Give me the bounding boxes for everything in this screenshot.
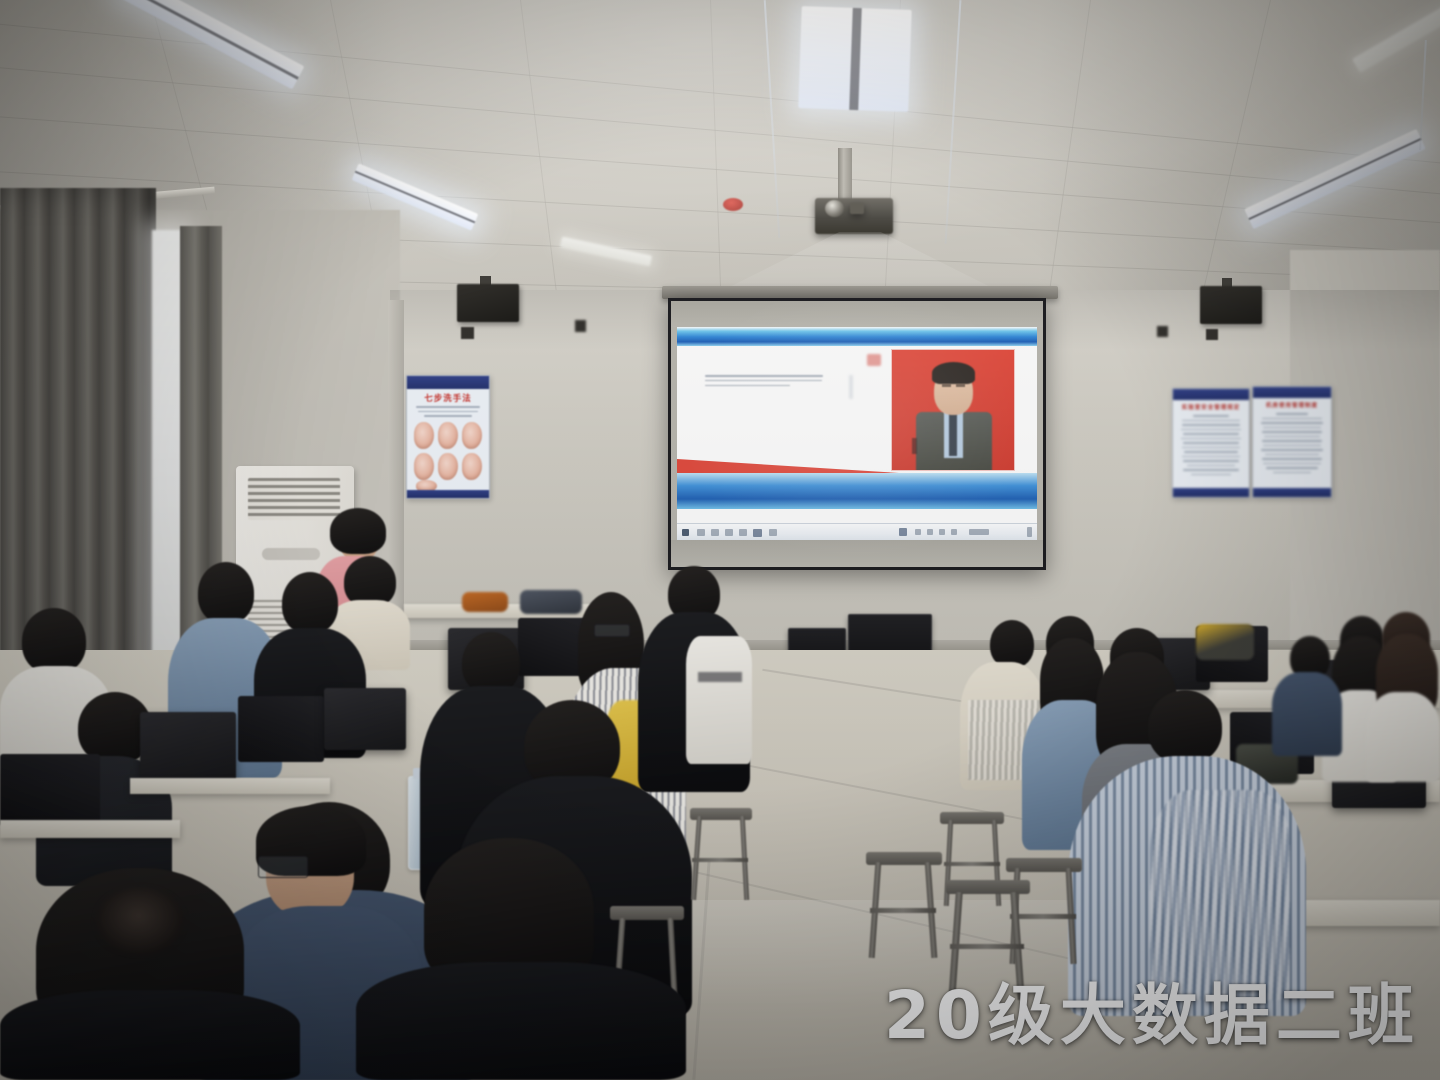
broadcaster-logo — [867, 354, 881, 366]
safety-poster-right: 机房使用管理制度 — [1252, 386, 1332, 498]
workstation-desk — [130, 778, 330, 794]
tray-icon[interactable] — [915, 529, 921, 535]
tray-icon[interactable] — [927, 529, 933, 535]
taskbar-icon[interactable] — [739, 529, 747, 536]
projection-screen-surface — [671, 301, 1043, 567]
backpack — [520, 590, 582, 614]
poster-title: 机房使用管理制度 — [1253, 401, 1331, 409]
video-top-banner — [677, 327, 1037, 346]
video-bottom-banner — [677, 473, 1037, 509]
taskbar-icon[interactable] — [753, 529, 762, 537]
video-caption-text — [705, 375, 823, 389]
start-button-icon[interactable] — [682, 529, 689, 536]
windows-taskbar[interactable] — [677, 523, 1037, 540]
tray-icon[interactable] — [939, 529, 945, 535]
handwashing-poster: 七步洗手法 — [406, 375, 490, 499]
handwashing-illustrations — [414, 422, 482, 480]
wall-sensor — [575, 320, 586, 332]
wall-sensor — [1157, 326, 1168, 337]
backpack — [462, 592, 508, 612]
workstation-desk — [0, 820, 180, 838]
taskbar-icon[interactable] — [769, 529, 777, 536]
tray-icon[interactable] — [899, 528, 907, 536]
clock-icon[interactable] — [969, 529, 989, 535]
taskbar-icon[interactable] — [697, 529, 705, 536]
projection-screen[interactable] — [668, 298, 1046, 570]
safety-poster-left: 实验室安全管理规定 — [1172, 388, 1250, 498]
poster-title: 实验室安全管理规定 — [1173, 403, 1249, 411]
media-player-window[interactable] — [677, 327, 1037, 540]
watermark-text: 20级大数据二班 — [884, 962, 1420, 1058]
show-desktop-icon[interactable] — [1027, 527, 1032, 537]
classroom-photo: 七步洗手法 实验室安全管理规定 机房使用管理制度 — [0, 0, 1440, 1080]
crt-monitor — [238, 696, 324, 762]
tray-icon[interactable] — [951, 529, 957, 535]
crt-monitor — [0, 754, 100, 826]
taskbar-icon[interactable] — [725, 529, 733, 536]
video-side-mark — [849, 375, 853, 402]
video-speaker-panel — [891, 349, 1015, 471]
crt-monitor — [324, 688, 406, 750]
poster-title: 七步洗手法 — [407, 392, 489, 404]
crt-monitor — [140, 712, 236, 782]
taskbar-icon[interactable] — [711, 529, 719, 536]
backpack-yellow — [1196, 624, 1254, 660]
